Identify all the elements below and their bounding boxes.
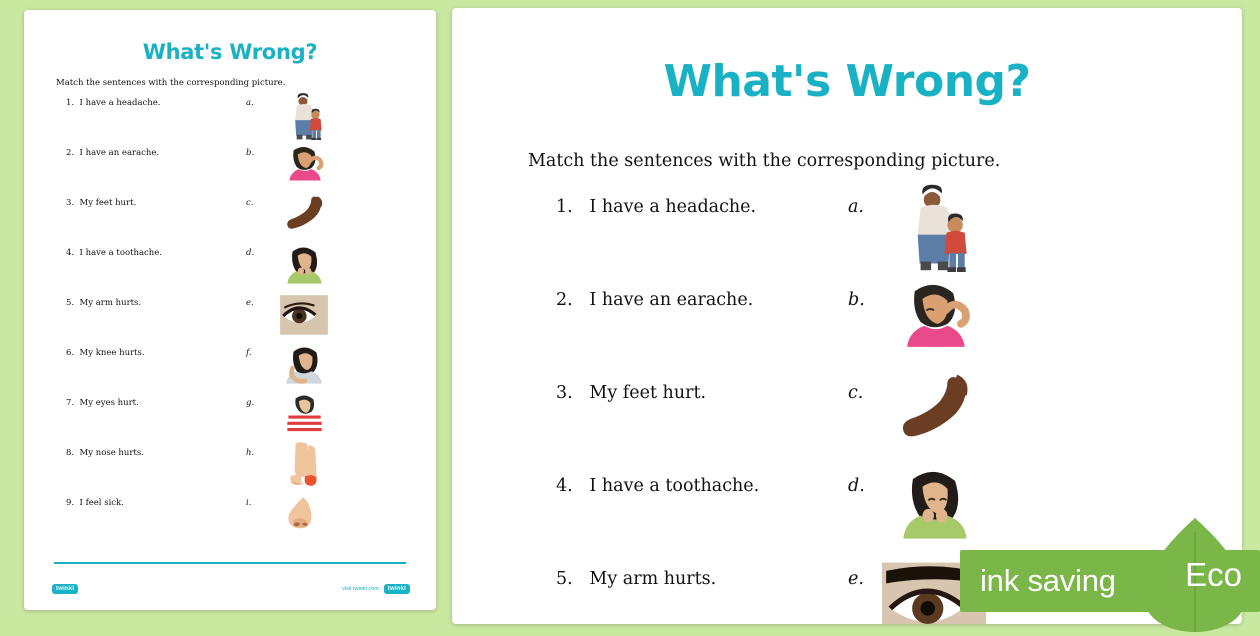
thumbnail-instruction: Match the sentences with the correspondi… [56, 78, 436, 88]
woman-holding-cheek-illustration [276, 240, 332, 292]
item-number: 2. [66, 148, 74, 158]
item-number: 6. [66, 348, 74, 358]
thumbnail-label-i: i. [246, 498, 251, 508]
thumbnail-footer-brand[interactable]: twinkl [52, 584, 78, 594]
twinkl-logo-icon: twinkl [52, 584, 78, 594]
item-number: 2. [556, 290, 573, 310]
picture-label-b: b. [848, 290, 865, 310]
list-item: 1. I have a headache. a. [24, 98, 436, 148]
thumbnail-label-d: d. [246, 248, 254, 258]
thumbnail-divider [54, 562, 406, 564]
thumbnail-label-e: e. [246, 298, 254, 308]
thumbnail-sentence-5: 5. My arm hurts. [66, 298, 141, 308]
thumbnail-sentence-9: 9. I feel sick. [66, 498, 124, 508]
woman-holding-ear-illustration [882, 272, 986, 368]
thumbnail-sentence-7: 7. My eyes hurt. [66, 398, 139, 408]
item-text: I have a toothache. [80, 248, 162, 258]
page-title: What's Wrong? [452, 56, 1242, 107]
item-number: 3. [66, 198, 74, 208]
worksheet-main-page[interactable]: What's Wrong? Match the sentences with t… [452, 8, 1242, 624]
worksheet-thumbnail-page[interactable]: What's Wrong? Match the sentences with t… [24, 10, 436, 610]
thumbnail-content: What's Wrong? Match the sentences with t… [24, 10, 436, 610]
item-text: My eyes hurt. [80, 398, 139, 408]
item-number: 5. [556, 569, 573, 589]
boy-in-striped-shirt-illustration [276, 390, 332, 442]
sentence-4: 4. I have a toothache. [556, 476, 759, 496]
instruction-text: Match the sentences with the correspondi… [528, 151, 1242, 171]
table-row: 2. I have an earache. b. [452, 290, 1242, 383]
list-item: 5. My arm hurts. e. [24, 298, 436, 348]
thumbnail-page-title: What's Wrong? [24, 40, 436, 64]
thumbnail-rows: 1. I have a headache. a. [24, 98, 436, 548]
nose-illustration [276, 490, 332, 542]
table-row: 3. My feet hurt. c. [452, 383, 1242, 476]
mother-and-child-illustration [882, 179, 986, 275]
item-text: My knee hurts. [80, 348, 145, 358]
legs-and-feet-illustration [276, 440, 332, 492]
item-text: I feel sick. [80, 498, 124, 508]
sentence-5: 5. My arm hurts. [556, 569, 716, 589]
item-number: 8. [66, 448, 74, 458]
list-item: 3. My feet hurt. c. [24, 198, 436, 248]
eco-badge-label: ink saving [980, 563, 1116, 599]
eco-badge-word: Eco [1185, 556, 1242, 594]
sentence-2: 2. I have an earache. [556, 290, 753, 310]
woman-holding-neck-illustration [276, 340, 332, 392]
item-number: 1. [66, 98, 74, 108]
list-item: 4. I have a toothache. d. [24, 248, 436, 298]
item-number: 3. [556, 383, 573, 403]
thumbnail-sentence-2: 2. I have an earache. [66, 148, 159, 158]
item-text: I have a toothache. [589, 476, 759, 496]
item-text: My feet hurt. [80, 198, 137, 208]
item-number: 5. [66, 298, 74, 308]
twinkl-url-text: visit twinkl.com [342, 586, 379, 592]
item-number: 4. [66, 248, 74, 258]
sentence-3: 3. My feet hurt. [556, 383, 706, 403]
picture-label-d: d. [848, 476, 865, 496]
item-text: My nose hurts. [80, 448, 144, 458]
picture-label-c: c. [848, 383, 863, 403]
thumbnail-label-a: a. [246, 98, 254, 108]
thumbnail-sentence-8: 8. My nose hurts. [66, 448, 144, 458]
thumbnail-label-f: f. [246, 348, 252, 358]
twinkl-logo-icon-small: twinkl [384, 584, 410, 594]
thumbnail-sentence-1: 1. I have a headache. [66, 98, 161, 108]
picture-label-a: a. [848, 197, 864, 217]
thumbnail-label-b: b. [246, 148, 254, 158]
item-number: 4. [556, 476, 573, 496]
list-item: 9. I feel sick. i. [24, 498, 436, 548]
thumbnail-sentence-3: 3. My feet hurt. [66, 198, 136, 208]
item-text: I have a headache. [589, 197, 756, 217]
item-text: I have a headache. [80, 98, 161, 108]
sentence-1: 1. I have a headache. [556, 197, 756, 217]
woman-holding-cheek-illustration [882, 458, 986, 554]
thumbnail-footer-link[interactable]: visit twinkl.com twinkl [342, 584, 410, 594]
arm-illustration [276, 190, 332, 242]
picture-label-e: e. [848, 569, 864, 589]
item-text: My arm hurts. [80, 298, 142, 308]
thumbnail-sentence-4: 4. I have a toothache. [66, 248, 162, 258]
thumbnail-label-h: h. [246, 448, 254, 458]
item-text: My arm hurts. [589, 569, 716, 589]
list-item: 6. My knee hurts. f. [24, 348, 436, 398]
table-row: 1. I have a headache. a. [452, 197, 1242, 290]
list-item: 7. My eyes hurt. g. [24, 398, 436, 448]
eye-photo-illustration [276, 290, 332, 342]
mother-and-child-illustration [276, 90, 332, 142]
thumbnail-label-c: c. [246, 198, 253, 208]
woman-holding-ear-illustration [276, 140, 332, 192]
item-text: I have an earache. [80, 148, 160, 158]
thumbnail-sentence-6: 6. My knee hurts. [66, 348, 145, 358]
arm-illustration [882, 365, 986, 461]
item-number: 7. [66, 398, 74, 408]
list-item: 2. I have an earache. b. [24, 148, 436, 198]
list-item: 8. My nose hurts. h. [24, 448, 436, 498]
item-text: My feet hurt. [589, 383, 706, 403]
item-number: 9. [66, 498, 74, 508]
thumbnail-label-g: g. [246, 398, 254, 408]
item-text: I have an earache. [589, 290, 753, 310]
item-number: 1. [556, 197, 573, 217]
